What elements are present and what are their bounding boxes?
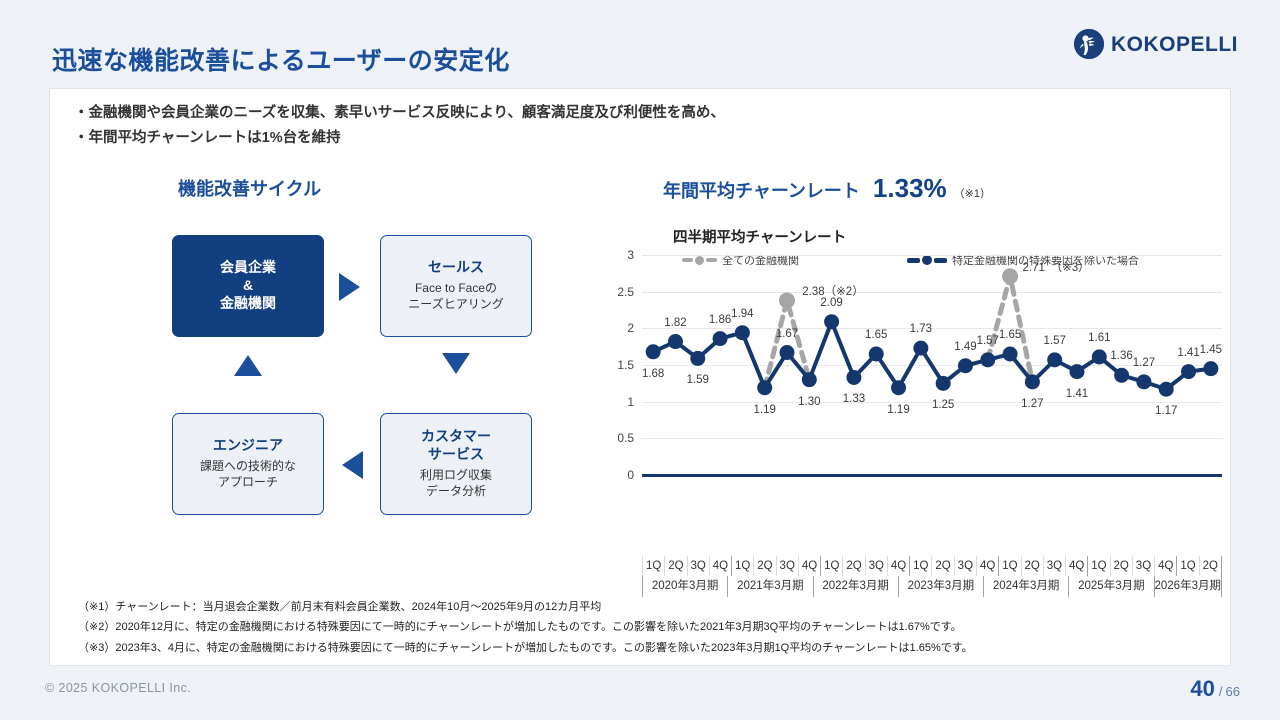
navy-series-marker xyxy=(980,352,995,367)
logo-text: KOKOPELLI xyxy=(1111,34,1238,55)
x-axis-quarter-cell: 3Q xyxy=(866,556,888,576)
annual-churn-label: 年間平均チャーンレート xyxy=(663,177,860,203)
page-total: 66 xyxy=(1226,684,1240,699)
chart-annotation: 2.71 （※3） xyxy=(1022,259,1089,275)
navy-series-marker xyxy=(1136,374,1151,389)
x-axis-quarter-cell: 1Q xyxy=(732,556,754,576)
grey-series-marker xyxy=(779,292,795,308)
data-point-label: 1.68 xyxy=(642,368,664,380)
cycle-node-cs-title2: サービス xyxy=(421,446,491,464)
cycle-node-sales-title: セールス xyxy=(428,259,484,277)
data-point-label: 1.65 xyxy=(865,329,887,341)
annual-churn-value: 1.33% xyxy=(873,173,947,204)
navy-series-marker xyxy=(958,358,973,373)
cycle-node-cs-sub1: 利用ログ収集 xyxy=(420,467,492,484)
navy-series-marker xyxy=(891,380,906,395)
cycle-node-sales-sub1: Face to Faceの xyxy=(408,280,503,297)
arrow-right-icon xyxy=(339,273,360,301)
data-point-label: 1.19 xyxy=(753,404,775,416)
cycle-node-engineer: エンジニア 課題への技術的な アプローチ xyxy=(172,413,324,515)
data-point-label: 1.86 xyxy=(709,314,731,326)
data-point-label: 1.61 xyxy=(1088,332,1110,344)
cycle-node-customer-service: カスタマー サービス 利用ログ収集 データ分析 xyxy=(380,413,532,515)
data-point-label: 1.30 xyxy=(798,396,820,408)
data-point-label: 1.19 xyxy=(887,404,909,416)
x-axis-fiscalyear-cell: 2025年3月期 xyxy=(1069,576,1154,597)
navy-series-marker xyxy=(713,331,728,346)
x-axis-quarter-cell: 1Q xyxy=(642,556,665,576)
page-indicator: 40 / 66 xyxy=(1190,676,1240,702)
x-axis-fiscalyear-cell: 2020年3月期 xyxy=(642,576,728,597)
x-axis-quarter-cell: 2Q xyxy=(1022,556,1044,576)
navy-series-marker xyxy=(1070,364,1085,379)
navy-series-marker xyxy=(1092,349,1107,364)
y-axis-tick: 0.5 xyxy=(617,431,634,445)
x-axis-quarter-cell: 2Q xyxy=(843,556,865,576)
navy-series-marker xyxy=(646,344,661,359)
cycle-node-cs-title1: カスタマー xyxy=(421,428,491,446)
chart-x-axis: 1Q2Q3Q4Q1Q2Q3Q4Q1Q2Q3Q4Q1Q2Q3Q4Q1Q2Q3Q4Q… xyxy=(642,556,1222,597)
bullet-2: ・年間平均チャーンレートは1%台を維持 xyxy=(74,126,1204,151)
y-axis-tick: 2 xyxy=(627,321,634,335)
content-card: ・金融機関や会員企業のニーズを収集、素早いサービス反映により、顧客満足度及び利便… xyxy=(49,88,1231,666)
data-point-label: 1.94 xyxy=(731,308,753,320)
cycle-node-members-line2: & xyxy=(220,277,276,295)
x-axis-quarter-cell: 4Q xyxy=(1155,556,1177,576)
data-point-label: 1.27 xyxy=(1133,357,1155,369)
navy-series-marker xyxy=(1114,368,1129,383)
data-point-label: 1.65 xyxy=(999,329,1021,341)
data-point-label: 1.36 xyxy=(1110,350,1132,362)
navy-series-marker xyxy=(846,370,861,385)
cycle-node-sales: セールス Face to Faceの ニーズヒアリング xyxy=(380,235,532,337)
data-point-label: 1.73 xyxy=(910,323,932,335)
x-axis-quarter-cell: 3Q xyxy=(1044,556,1066,576)
y-axis-tick: 3 xyxy=(627,248,634,262)
x-axis-quarter-cell: 1Q xyxy=(1088,556,1110,576)
navy-series-marker xyxy=(1181,364,1196,379)
cycle-node-engineer-sub1: 課題への技術的な xyxy=(200,458,296,475)
navy-series-marker xyxy=(869,347,884,362)
arrow-up-icon xyxy=(234,355,262,376)
data-point-label: 1.82 xyxy=(664,317,686,329)
data-point-label: 1.25 xyxy=(932,399,954,411)
navy-series-marker xyxy=(802,372,817,387)
y-axis-tick: 1 xyxy=(627,395,634,409)
cycle-title: 機能改善サイクル xyxy=(178,175,321,201)
annual-churn-headline: 年間平均チャーンレート 1.33% （※1） xyxy=(663,173,991,204)
x-axis-quarter-cell: 4Q xyxy=(710,556,732,576)
data-point-label: 1.45 xyxy=(1200,344,1222,356)
y-axis-tick: 0 xyxy=(627,468,634,482)
x-axis-fiscalyear-cell: 2023年3月期 xyxy=(899,576,984,597)
cycle-node-members: 会員企業 & 金融機関 xyxy=(172,235,324,337)
footnote-2: （※2）2020年12月に、特定の金融機関における特殊要因にて一時的にチャーンレ… xyxy=(78,617,1218,637)
x-axis-quarter-cell: 2Q xyxy=(1200,556,1222,576)
x-axis-fiscalyear-row: 2020年3月期2021年3月期2022年3月期2023年3月期2024年3月期… xyxy=(642,576,1222,597)
x-axis-quarter-cell: 2Q xyxy=(665,556,687,576)
data-point-label: 1.57 xyxy=(977,335,999,347)
navy-series-marker xyxy=(1047,352,1062,367)
x-axis-quarter-cell: 4Q xyxy=(977,556,999,576)
x-axis-quarter-cell: 4Q xyxy=(1066,556,1088,576)
footnote-3: （※3）2023年3、4月に、特定の金融機関における特殊要因にて一時的にチャーン… xyxy=(78,638,1218,658)
copyright-text: © 2025 KOKOPELLI Inc. xyxy=(45,681,191,695)
grey-series-marker xyxy=(1002,268,1018,284)
x-axis-quarter-cell: 2Q xyxy=(754,556,776,576)
cycle-node-members-line3: 金融機関 xyxy=(220,295,276,313)
cycle-node-engineer-sub2: アプローチ xyxy=(200,474,296,491)
x-axis-fiscalyear-cell: 2022年3月期 xyxy=(814,576,899,597)
x-axis-quarter-row: 1Q2Q3Q4Q1Q2Q3Q4Q1Q2Q3Q4Q1Q2Q3Q4Q1Q2Q3Q4Q… xyxy=(642,556,1222,576)
x-axis-quarter-cell: 4Q xyxy=(799,556,821,576)
y-axis-tick: 2.5 xyxy=(617,285,634,299)
x-axis-quarter-cell: 4Q xyxy=(888,556,910,576)
navy-series-marker xyxy=(1003,347,1018,362)
kokopelli-circle-icon xyxy=(1074,29,1104,59)
navy-series-marker xyxy=(735,325,750,340)
arrow-left-icon xyxy=(342,451,363,479)
data-point-label: 1.59 xyxy=(687,374,709,386)
x-axis-quarter-cell: 3Q xyxy=(1133,556,1155,576)
navy-series-marker xyxy=(936,376,951,391)
navy-series-marker xyxy=(1203,361,1218,376)
x-axis-quarter-cell: 1Q xyxy=(910,556,932,576)
data-point-label: 1.57 xyxy=(1043,335,1065,347)
navy-series-marker xyxy=(780,345,795,360)
navy-series-marker xyxy=(1159,382,1174,397)
chart-annotation: 2.38（※2） xyxy=(802,283,863,299)
cycle-node-engineer-title: エンジニア xyxy=(213,437,283,455)
chart-container: 全ての金融機関 特定金融機関の特殊要因を除いた場合 32.521.510.501… xyxy=(642,255,1222,475)
summary-bullets: ・金融機関や会員企業のニーズを収集、素早いサービス反映により、顧客満足度及び利便… xyxy=(74,101,1204,152)
x-axis-quarter-cell: 3Q xyxy=(955,556,977,576)
navy-series-marker xyxy=(757,380,772,395)
x-axis-quarter-cell: 1Q xyxy=(999,556,1021,576)
y-axis-tick: 1.5 xyxy=(617,358,634,372)
navy-series-marker xyxy=(690,351,705,366)
x-axis-quarter-cell: 2Q xyxy=(932,556,954,576)
cycle-node-sales-sub2: ニーズヒアリング xyxy=(408,296,503,313)
navy-series-marker xyxy=(824,314,839,329)
slide-header: 迅速な機能改善によるユーザーの安定化 KOKOPELLI xyxy=(0,0,1280,84)
data-point-label: 1.49 xyxy=(954,341,976,353)
page-separator: / xyxy=(1219,684,1223,699)
footnote-1: （※1）チャーンレート：当月退会企業数／前月末有料会員企業数、2024年10月～… xyxy=(78,597,1218,617)
data-point-label: 1.67 xyxy=(776,328,798,340)
x-axis-quarter-cell: 3Q xyxy=(688,556,710,576)
x-axis-fiscalyear-cell: 2021年3月期 xyxy=(728,576,813,597)
brand-logo: KOKOPELLI xyxy=(1074,29,1238,59)
x-axis-quarter-cell: 1Q xyxy=(1177,556,1199,576)
x-axis-fiscalyear-cell: 2026年3月期 xyxy=(1155,576,1222,597)
cycle-node-members-line1: 会員企業 xyxy=(220,259,276,277)
data-point-label: 1.41 xyxy=(1066,388,1088,400)
data-point-label: 1.17 xyxy=(1155,405,1177,417)
page-title: 迅速な機能改善によるユーザーの安定化 xyxy=(52,41,510,77)
data-point-label: 1.41 xyxy=(1177,347,1199,359)
x-axis-quarter-cell: 3Q xyxy=(777,556,799,576)
navy-series-marker xyxy=(913,341,928,356)
navy-series-marker xyxy=(668,334,683,349)
bullet-1: ・金融機関や会員企業のニーズを収集、素早いサービス反映により、顧客満足度及び利便… xyxy=(74,101,1204,126)
slide: 迅速な機能改善によるユーザーの安定化 KOKOPELLI xyxy=(0,0,1280,720)
footnotes: （※1）チャーンレート：当月退会企業数／前月末有料会員企業数、2024年10月～… xyxy=(78,597,1218,658)
chart-plot-area: 32.521.510.501.681.821.591.861.941.191.6… xyxy=(642,255,1222,475)
cycle-node-cs-sub2: データ分析 xyxy=(420,483,492,500)
data-point-label: 1.27 xyxy=(1021,398,1043,410)
x-axis-quarter-cell: 1Q xyxy=(821,556,843,576)
arrow-down-icon xyxy=(442,353,470,374)
x-axis-fiscalyear-cell: 2024年3月期 xyxy=(984,576,1069,597)
data-point-label: 1.33 xyxy=(843,393,865,405)
chart-title: 四半期平均チャーンレート xyxy=(673,226,846,247)
navy-series-marker xyxy=(1025,374,1040,389)
x-axis-quarter-cell: 2Q xyxy=(1111,556,1133,576)
annual-churn-footnote-ref: （※1） xyxy=(954,185,991,201)
page-current: 40 xyxy=(1190,676,1214,702)
